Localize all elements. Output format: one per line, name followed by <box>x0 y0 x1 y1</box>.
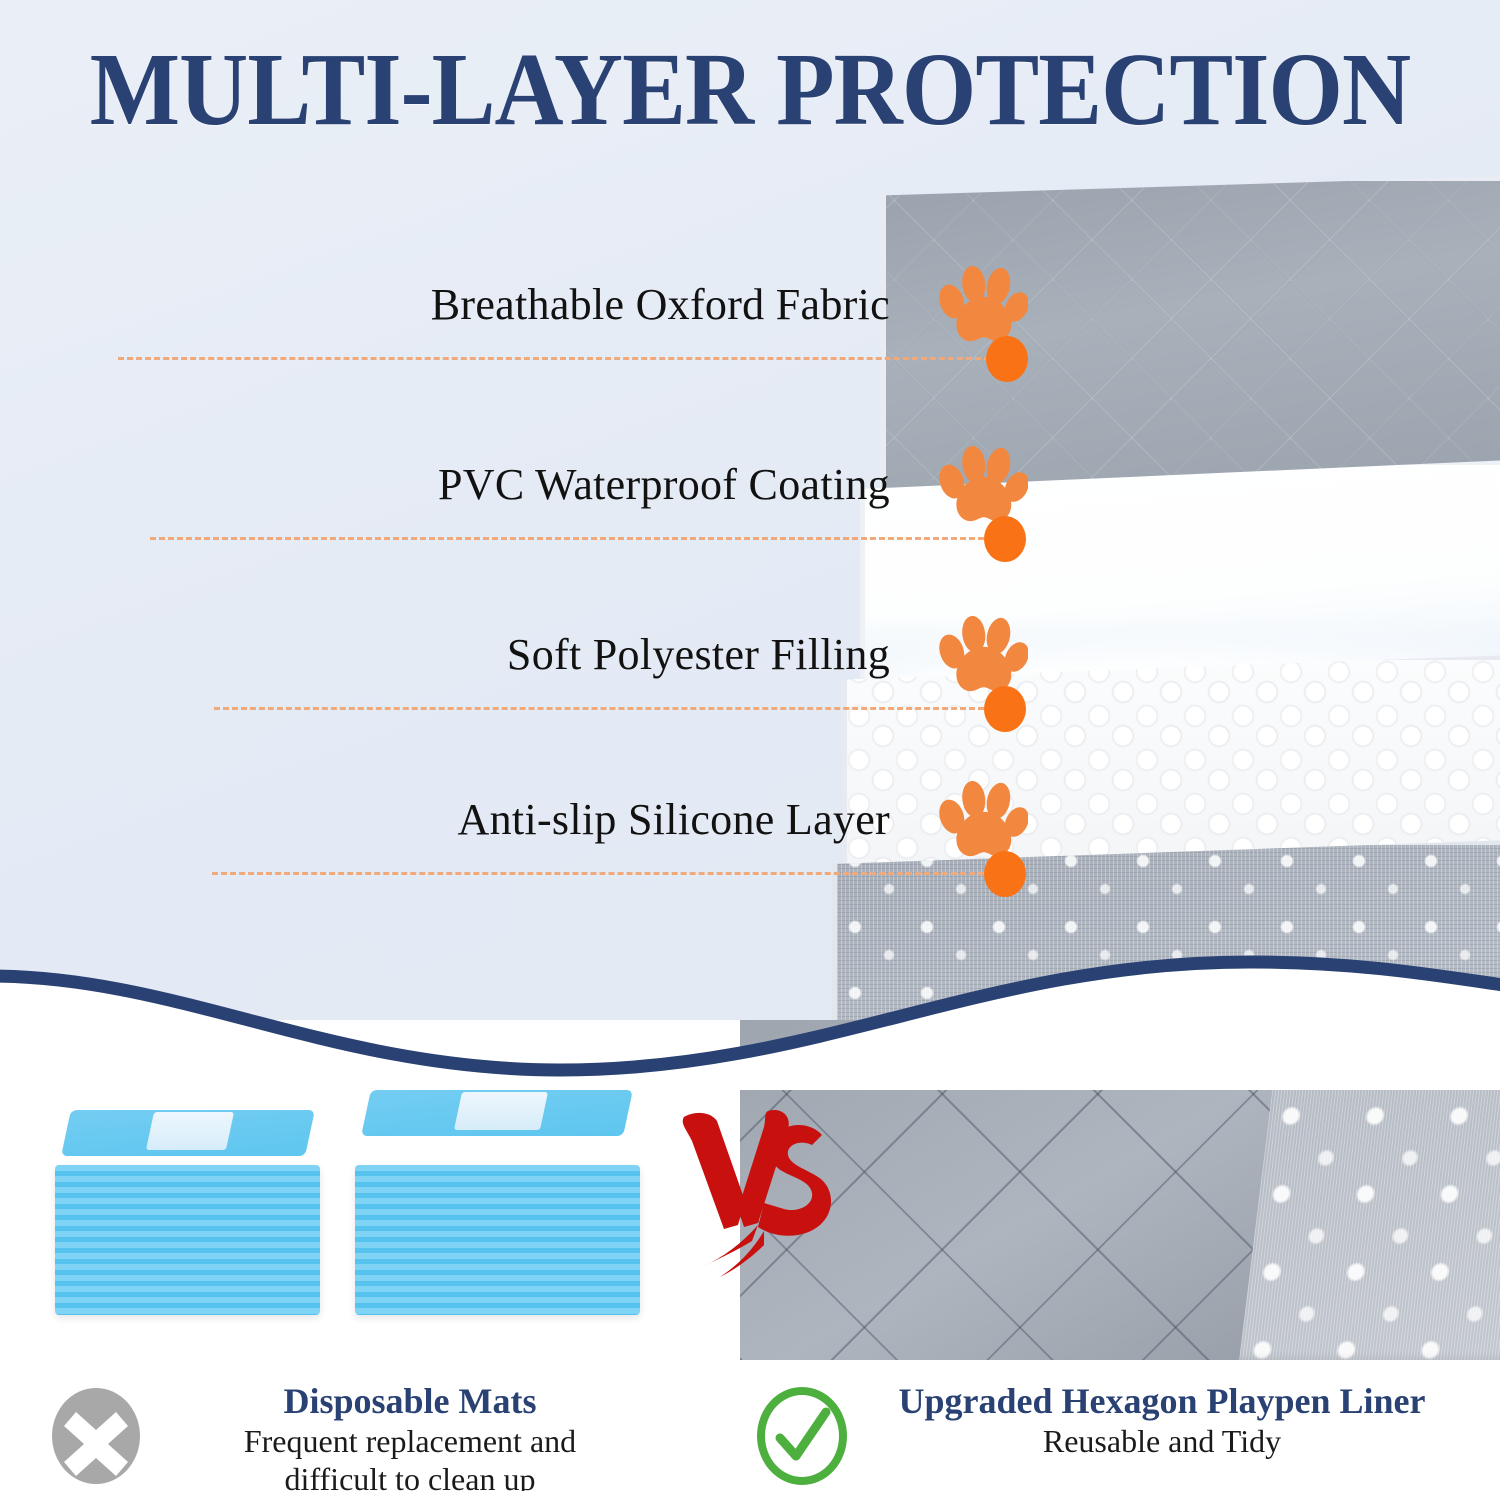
pad-stack-left <box>55 1110 320 1315</box>
pad-stack-body <box>55 1165 320 1315</box>
paw-print-icon <box>936 779 1028 865</box>
x-mark-circle-icon <box>50 1386 142 1486</box>
paw-print-icon <box>936 614 1028 700</box>
versus-badge <box>672 1105 842 1285</box>
comparison-right-subtitle-line1: Reusable and Tidy <box>852 1422 1472 1460</box>
comparison-right-text: Upgraded Hexagon Playpen Liner Reusable … <box>852 1380 1472 1460</box>
multi-layer-section: MULTI-LAYER PROTECTION Breathable Oxford… <box>0 0 1500 1030</box>
wave-divider <box>0 940 1500 1090</box>
layer-marker-dot-oxford <box>986 336 1028 382</box>
feature-row-pvc: PVC Waterproof Coating <box>0 420 1060 540</box>
leader-line-oxford <box>118 357 1008 360</box>
paw-print-icon <box>936 444 1028 530</box>
feature-label-oxford: Breathable Oxford Fabric <box>431 279 890 330</box>
comparison-left-subtitle-line2: difficult to clean up <box>150 1460 670 1491</box>
feature-label-pvc: PVC Waterproof Coating <box>438 459 890 510</box>
feature-row-filling: Soft Polyester Filling <box>0 590 1060 710</box>
comparison-left: Disposable Mats Frequent replacement and… <box>50 1380 690 1491</box>
comparison-section: Disposable Mats Frequent replacement and… <box>0 1020 1500 1491</box>
comparison-left-subtitle-line1: Frequent replacement and <box>150 1422 670 1460</box>
infographic-page: MULTI-LAYER PROTECTION Breathable Oxford… <box>0 0 1500 1491</box>
comparison-left-title: Disposable Mats <box>150 1380 670 1422</box>
page-title: MULTI-LAYER PROTECTION <box>60 34 1440 146</box>
pad-absorbent-strip <box>454 1092 548 1130</box>
pad-absorbent-strip <box>146 1112 234 1150</box>
pad-stack-right <box>355 1090 640 1315</box>
pad-stack-body <box>355 1165 640 1315</box>
leader-line-silicone <box>212 872 1002 875</box>
check-mark-circle-icon <box>756 1386 848 1486</box>
layer-marker-dot-pvc <box>984 516 1026 562</box>
layer-marker-dot-filling <box>984 686 1026 732</box>
layer-marker-dot-silicone <box>984 851 1026 897</box>
feature-row-oxford: Breathable Oxford Fabric <box>0 240 1060 360</box>
feature-label-filling: Soft Polyester Filling <box>507 629 890 680</box>
comparison-right: Upgraded Hexagon Playpen Liner Reusable … <box>756 1380 1500 1491</box>
disposable-pads-image <box>55 1085 655 1315</box>
feature-row-silicone: Anti-slip Silicone Layer <box>0 755 1060 875</box>
comparison-right-title: Upgraded Hexagon Playpen Liner <box>852 1380 1472 1422</box>
feature-label-silicone: Anti-slip Silicone Layer <box>458 794 890 845</box>
leader-line-pvc <box>150 537 1002 540</box>
leader-line-filling <box>214 707 1002 710</box>
comparison-left-text: Disposable Mats Frequent replacement and… <box>150 1380 670 1491</box>
